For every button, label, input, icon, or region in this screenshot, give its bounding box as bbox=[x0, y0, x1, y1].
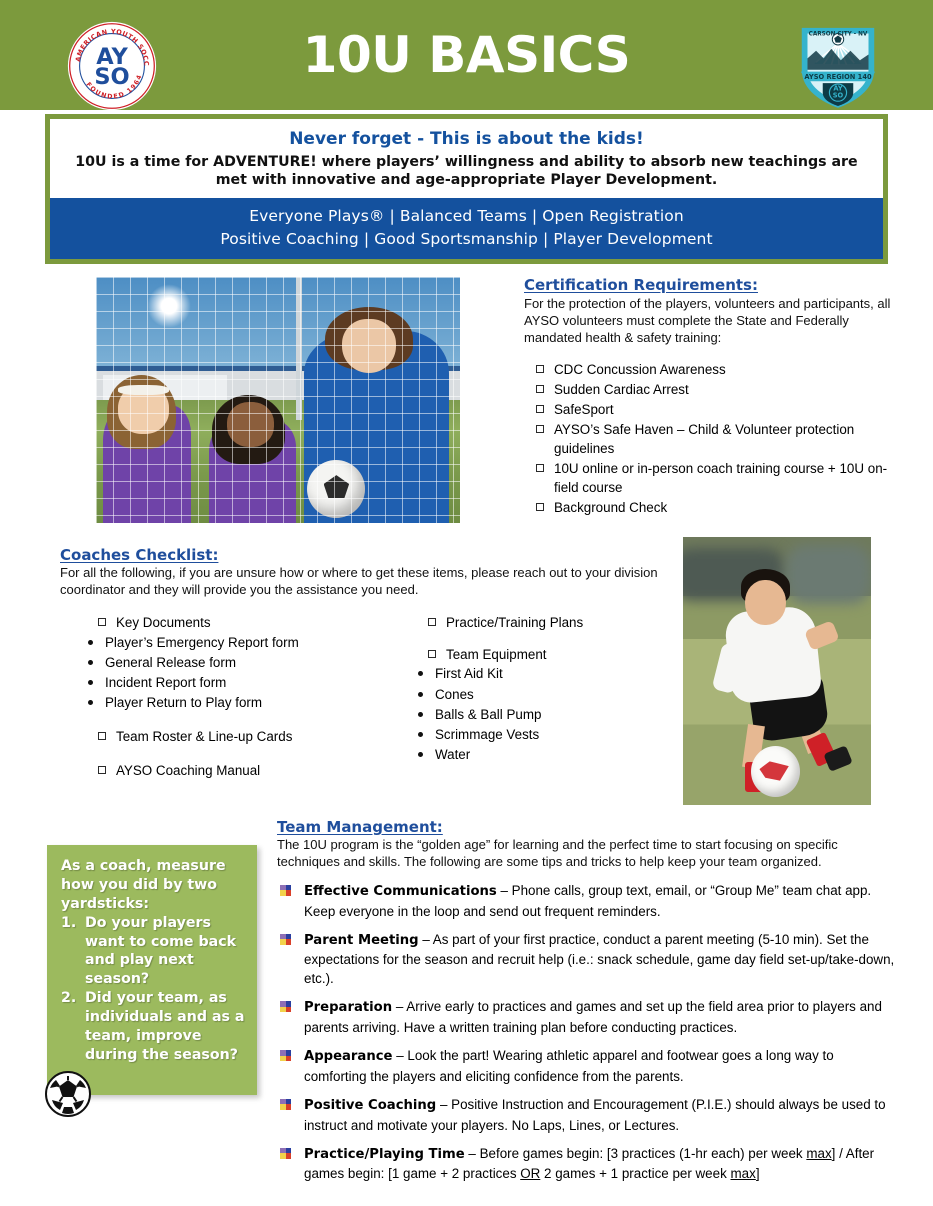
team-management-heading: Team Management: bbox=[277, 818, 895, 836]
list-item: 1. Do your players want to come back and… bbox=[61, 914, 247, 990]
certification-heading: Certification Requirements: bbox=[524, 276, 896, 294]
list-item-label: First Aid Kit bbox=[435, 664, 503, 684]
callout-list: 1. Do your players want to come back and… bbox=[61, 914, 247, 1065]
ayso-region-140-logo-icon: AYSO REGION 140 CARSON CITY - NV AY SO bbox=[797, 20, 879, 110]
list-item-number: 2. bbox=[61, 989, 77, 1065]
certification-list: CDC Concussion Awareness Sudden Cardiac … bbox=[524, 360, 896, 517]
list-item: Appearance – Look the part! Wearing athl… bbox=[277, 1046, 895, 1086]
checkbox-icon[interactable] bbox=[536, 385, 544, 393]
svg-text:AYSO REGION 140: AYSO REGION 140 bbox=[804, 73, 872, 81]
key-documents-sublist: Player’s Emergency Report form General R… bbox=[60, 633, 390, 713]
bullet-icon bbox=[88, 700, 93, 705]
coaches-checklist-heading: Coaches Checklist: bbox=[60, 546, 676, 564]
list-item[interactable]: Team Equipment bbox=[390, 645, 658, 665]
list-item: First Aid Kit bbox=[390, 664, 658, 684]
bullet-icon bbox=[418, 692, 423, 697]
list-item-label: Incident Report form bbox=[105, 673, 226, 693]
list-item: Water bbox=[390, 745, 658, 765]
banner-subhead: 10U is a time for ADVENTURE! where playe… bbox=[64, 153, 869, 189]
list-item-label: Practice/Training Plans bbox=[446, 613, 583, 633]
coaches-checklist-intro: For all the following, if you are unsure… bbox=[60, 565, 676, 599]
list-item: Parent Meeting – As part of your first p… bbox=[277, 930, 895, 989]
list-item-label: Sudden Cardiac Arrest bbox=[554, 380, 689, 399]
list-item: Preparation – Arrive early to practices … bbox=[277, 997, 895, 1037]
list-item-label: Team Equipment bbox=[446, 645, 546, 665]
list-item-label: Player’s Emergency Report form bbox=[105, 633, 299, 653]
checkbox-icon[interactable] bbox=[536, 464, 544, 472]
philosophy-banner: Never forget - This is about the kids! 1… bbox=[45, 114, 888, 264]
list-item[interactable]: Team Roster & Line-up Cards bbox=[60, 727, 390, 747]
bullet-icon bbox=[418, 732, 423, 737]
list-item-label: Background Check bbox=[554, 498, 667, 517]
checkbox-icon[interactable] bbox=[428, 618, 436, 626]
tip-title: Appearance bbox=[304, 1049, 392, 1064]
page-title: 10U BASICS bbox=[303, 30, 631, 80]
list-item[interactable]: 10U online or in-person coach training c… bbox=[524, 459, 896, 497]
list-item: General Release form bbox=[60, 653, 390, 673]
list-item[interactable]: AYSO Coaching Manual bbox=[60, 761, 390, 781]
tip-underline-1: max bbox=[806, 1146, 831, 1161]
diamond-bullet-icon bbox=[280, 885, 291, 896]
diamond-bullet-icon bbox=[280, 1148, 291, 1159]
list-item-label: Do your players want to come back and pl… bbox=[85, 914, 247, 990]
checkbox-icon[interactable] bbox=[98, 732, 106, 740]
certification-requirements-section: Certification Requirements: For the prot… bbox=[524, 276, 896, 518]
tip-underline-2: OR bbox=[520, 1166, 540, 1181]
ayso-logo-icon: AMERICAN YOUTH SOCCER ORGANIZATION FOUND… bbox=[67, 21, 157, 111]
list-item-label: Balls & Ball Pump bbox=[435, 705, 541, 725]
checkbox-icon[interactable] bbox=[536, 425, 544, 433]
tip-body-pre: – Before games begin: [3 practices (1-hr… bbox=[465, 1146, 807, 1161]
list-item-label: Team Roster & Line-up Cards bbox=[116, 727, 292, 747]
tip-title: Preparation bbox=[304, 1000, 392, 1015]
list-item-label: 10U online or in-person coach training c… bbox=[554, 459, 896, 497]
diamond-bullet-icon bbox=[280, 1001, 291, 1012]
list-item-label: AYSO Coaching Manual bbox=[116, 761, 260, 781]
banner-headline: Never forget - This is about the kids! bbox=[64, 129, 869, 149]
list-item: Effective Communications – Phone calls, … bbox=[277, 881, 895, 921]
checkbox-icon[interactable] bbox=[536, 503, 544, 511]
list-item: Incident Report form bbox=[60, 673, 390, 693]
list-item: Cones bbox=[390, 685, 658, 705]
diamond-bullet-icon bbox=[280, 1099, 291, 1110]
coaches-checklist-section: Coaches Checklist: For all the following… bbox=[60, 546, 676, 781]
list-item[interactable]: CDC Concussion Awareness bbox=[524, 360, 896, 379]
svg-text:SO: SO bbox=[94, 64, 129, 90]
bullet-icon bbox=[88, 660, 93, 665]
list-item-label: Cones bbox=[435, 685, 474, 705]
bullet-icon bbox=[418, 712, 423, 717]
certification-intro: For the protection of the players, volun… bbox=[524, 296, 896, 347]
list-item-label: SafeSport bbox=[554, 400, 614, 419]
tip-underline-3: max bbox=[731, 1166, 756, 1181]
svg-text:SO: SO bbox=[833, 91, 844, 99]
callout-intro: As a coach, measure how you did by two y… bbox=[61, 857, 247, 914]
svg-text:CARSON CITY - NV: CARSON CITY - NV bbox=[809, 31, 868, 37]
list-item-label: AYSO’s Safe Haven – Child & Volunteer pr… bbox=[554, 420, 896, 458]
bullet-icon bbox=[88, 640, 93, 645]
bullet-icon bbox=[88, 680, 93, 685]
list-item[interactable]: SafeSport bbox=[524, 400, 896, 419]
philosophy-line-2: Positive Coaching | Good Sportsmanship |… bbox=[54, 228, 879, 250]
checklist-right-column: Practice/Training Plans Team Equipment F… bbox=[390, 613, 658, 781]
soccer-ball-icon bbox=[44, 1070, 92, 1118]
list-item[interactable]: Key Documents bbox=[60, 613, 390, 633]
list-item[interactable]: AYSO’s Safe Haven – Child & Volunteer pr… bbox=[524, 420, 896, 458]
list-item-number: 1. bbox=[61, 914, 77, 990]
list-item-label: Did your team, as individuals and as a t… bbox=[85, 989, 247, 1065]
list-item: Balls & Ball Pump bbox=[390, 705, 658, 725]
tip-title: Parent Meeting bbox=[304, 933, 419, 948]
tip-body-mid2: 2 games + 1 practice per week bbox=[540, 1166, 730, 1181]
checkbox-icon[interactable] bbox=[536, 365, 544, 373]
list-item-label: Player Return to Play form bbox=[105, 693, 262, 713]
team-equipment-sublist: First Aid Kit Cones Balls & Ball Pump Sc… bbox=[390, 664, 658, 765]
list-item-label: Scrimmage Vests bbox=[435, 725, 539, 745]
checkbox-icon[interactable] bbox=[428, 650, 436, 658]
list-item: Practice/Playing Time – Before games beg… bbox=[277, 1144, 895, 1184]
coach-with-players-photo bbox=[96, 277, 460, 523]
list-item-label: Water bbox=[435, 745, 470, 765]
checkbox-icon[interactable] bbox=[98, 618, 106, 626]
diamond-bullet-icon bbox=[280, 1050, 291, 1061]
list-item: Positive Coaching – Positive Instruction… bbox=[277, 1095, 895, 1135]
checkbox-icon[interactable] bbox=[536, 405, 544, 413]
ayso-philosophies-bar: Everyone Plays® | Balanced Teams | Open … bbox=[50, 198, 883, 259]
list-item[interactable]: Background Check bbox=[524, 498, 896, 517]
tip-title: Practice/Playing Time bbox=[304, 1147, 465, 1162]
diamond-bullet-icon bbox=[280, 934, 291, 945]
team-management-tips-list: Effective Communications – Phone calls, … bbox=[277, 881, 895, 1184]
list-item: 2. Did your team, as individuals and as … bbox=[61, 989, 247, 1065]
tip-body-end: ] bbox=[756, 1166, 760, 1181]
list-item[interactable]: Practice/Training Plans bbox=[390, 613, 658, 633]
list-item-label: CDC Concussion Awareness bbox=[554, 360, 726, 379]
checkbox-icon[interactable] bbox=[98, 766, 106, 774]
list-item-label: Key Documents bbox=[116, 613, 211, 633]
checklist-left-column: Key Documents Player’s Emergency Report … bbox=[60, 613, 390, 781]
tip-title: Positive Coaching bbox=[304, 1098, 436, 1113]
bullet-icon bbox=[418, 671, 423, 676]
banner-text-block: Never forget - This is about the kids! 1… bbox=[50, 119, 883, 197]
list-item[interactable]: Sudden Cardiac Arrest bbox=[524, 380, 896, 399]
list-item: Scrimmage Vests bbox=[390, 725, 658, 745]
bullet-icon bbox=[418, 752, 423, 757]
list-item-label: General Release form bbox=[105, 653, 236, 673]
philosophy-line-1: Everyone Plays® | Balanced Teams | Open … bbox=[54, 205, 879, 227]
list-item: Player’s Emergency Report form bbox=[60, 633, 390, 653]
team-management-section: Team Management: The 10U program is the … bbox=[277, 818, 895, 1192]
boy-kicking-ball-photo bbox=[683, 537, 871, 805]
team-management-intro: The 10U program is the “golden age” for … bbox=[277, 837, 895, 871]
list-item: Player Return to Play form bbox=[60, 693, 390, 713]
tip-title: Effective Communications bbox=[304, 884, 497, 899]
coach-yardsticks-callout: As a coach, measure how you did by two y… bbox=[47, 845, 257, 1095]
